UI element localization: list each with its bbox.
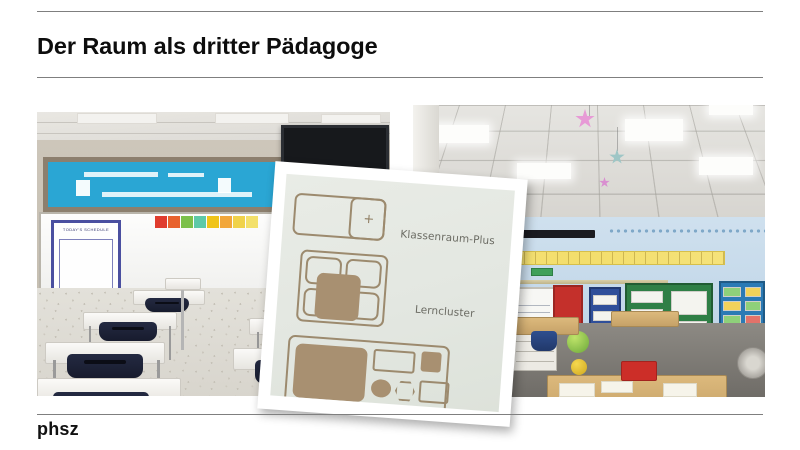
diagram-lerncluster-core — [314, 272, 361, 321]
header-top-rule — [37, 11, 763, 12]
schedule-poster-title: TODAY'S SCHEDULE — [63, 227, 109, 232]
diagram-lernlandschaft-zone — [372, 349, 415, 374]
student-chair — [531, 331, 557, 351]
teacher-desk — [611, 311, 679, 327]
color-chip-strip — [155, 216, 258, 228]
supply-bin — [621, 361, 657, 381]
wall-dot-border — [608, 227, 765, 235]
student-chair — [67, 354, 143, 378]
exit-sign — [531, 268, 553, 276]
plus-icon: + — [363, 213, 375, 227]
student-chair — [53, 392, 149, 396]
institution-logo: phsz — [37, 419, 79, 440]
presentation-slide: Der Raum als dritter Pädagoge TODAY'S SC… — [0, 0, 800, 450]
diagram-label-klassenraum-plus: Klassenraum-Plus — [400, 228, 495, 247]
page-title: Der Raum als dritter Pädagoge — [37, 33, 378, 60]
diagram-lernlandschaft-core — [292, 343, 368, 402]
diagram-lernlandschaft-zone-filled — [420, 351, 441, 372]
student-chair — [99, 322, 157, 341]
diagram-lernlandschaft-zone — [418, 380, 450, 404]
ceiling-light — [215, 113, 289, 124]
header-bottom-rule — [37, 77, 763, 78]
floor-fan — [737, 347, 765, 379]
room-typology-diagram-photo: + Klassenraum-Plus Lerncluster — [257, 161, 527, 427]
diagram-canvas: + Klassenraum-Plus Lerncluster — [270, 174, 515, 412]
ceiling-light — [77, 113, 157, 124]
projector-stand — [181, 288, 184, 350]
ceiling-light — [625, 119, 683, 141]
footer-rule — [37, 414, 763, 415]
ceiling-light — [699, 157, 753, 175]
diagram-label-lerncluster: Lerncluster — [414, 304, 474, 320]
yellow-ball — [571, 359, 587, 375]
projector-tray — [165, 278, 201, 290]
ceiling-light — [517, 163, 571, 179]
ceiling-light — [321, 114, 381, 124]
ceiling-light — [709, 105, 753, 115]
